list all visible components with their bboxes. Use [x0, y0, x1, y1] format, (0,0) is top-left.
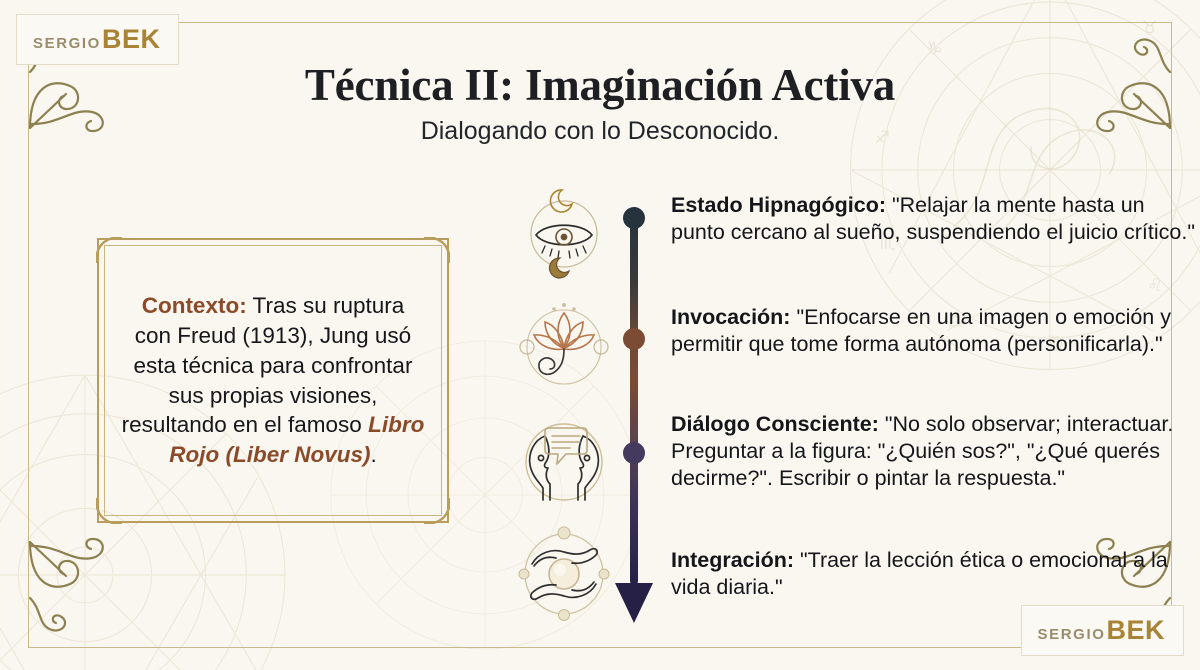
timeline-node-3 — [623, 442, 645, 464]
icon-slot-3 — [512, 410, 616, 514]
page-title: Técnica II: Imaginación Activa — [0, 62, 1200, 110]
timeline-axis — [627, 215, 641, 585]
icon-slot-1 — [512, 182, 616, 286]
timeline-node-2 — [623, 328, 645, 350]
icon-slot-2 — [512, 295, 616, 399]
filigree-corner-bottom-left-icon — [22, 534, 142, 654]
eye-moon-icon — [512, 182, 616, 286]
logo-bek-text: BEK — [1106, 615, 1165, 646]
svg-text:♌: ♌ — [1147, 275, 1163, 296]
step-label-2: Invocación: — [671, 305, 790, 329]
two-faces-speech-icon — [512, 410, 616, 514]
context-label: Contexto: — [142, 293, 247, 318]
svg-text:♈: ♈ — [1042, 0, 1058, 7]
title-block: Técnica II: Imaginación Activa Dialogand… — [0, 62, 1200, 146]
logo-sergio-text: SERGIO — [1038, 626, 1106, 643]
step-label-1: Estado Hipnagógico: — [671, 193, 886, 217]
step-label-3: Diálogo Consciente: — [671, 412, 879, 436]
step-label-4: Integración: — [671, 548, 794, 572]
slide-canvas: ♈♉♊ ♋♌♍ ♎♏♐ ♑ — [0, 0, 1200, 670]
context-box: Contexto: Tras su ruptura con Freud (191… — [97, 238, 449, 523]
timeline-node-1 — [623, 207, 645, 229]
context-text: Contexto: Tras su ruptura con Freud (191… — [121, 260, 425, 501]
step-item-4: Integración: "Traer la lección ética o e… — [671, 547, 1199, 601]
logo-top-left: SERGIO BEK — [16, 14, 179, 65]
timeline-arrow-head-icon — [615, 583, 653, 623]
page-subtitle: Dialogando con lo Desconocido. — [0, 117, 1200, 146]
svg-text:♑: ♑ — [927, 39, 943, 60]
logo-bottom-right: SERGIO BEK — [1021, 605, 1184, 656]
step-item-2: Invocación: "Enfocarse en una imagen o e… — [671, 304, 1199, 358]
step-item-1: Estado Hipnagógico: "Relajar la mente ha… — [671, 192, 1199, 246]
timeline-gradient-line — [630, 215, 638, 585]
step-item-3: Diálogo Consciente: "No solo observar; i… — [671, 411, 1199, 492]
icon-slot-4 — [512, 522, 616, 626]
hands-sphere-icon — [512, 522, 616, 626]
lotus-spiral-icon — [512, 295, 616, 399]
logo-sergio-text: SERGIO — [33, 35, 101, 52]
svg-text:♉: ♉ — [1142, 18, 1158, 39]
logo-bek-text: BEK — [102, 24, 161, 55]
context-body-after: . — [370, 442, 376, 467]
